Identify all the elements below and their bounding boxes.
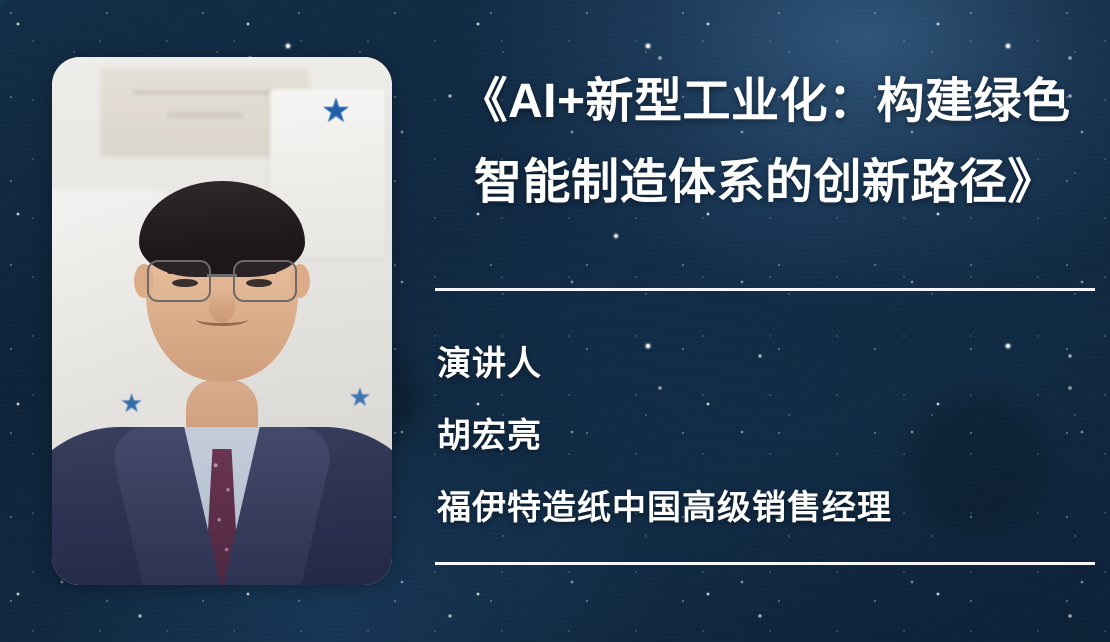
speaker-portrait: ★ ★ ★: [52, 57, 392, 585]
presentation-slide: ★ ★ ★: [0, 0, 1110, 642]
portrait-person: [52, 57, 392, 585]
glasses-bridge: [207, 274, 237, 276]
divider-top: [435, 288, 1095, 291]
speaker-info: 演讲人 胡宏亮 福伊特造纸中国高级销售经理: [437, 328, 1097, 544]
eyeglasses-icon: [147, 260, 297, 300]
slide-text-column: 《AI+新型工业化：构建绿色 智能制造体系的创新路径》 演讲人 胡宏亮 福伊特造…: [435, 0, 1110, 642]
speaker-title: 福伊特造纸中国高级销售经理: [437, 472, 1097, 544]
speaker-label: 演讲人: [437, 328, 1097, 400]
lens-left: [147, 260, 211, 302]
slide-title: 《AI+新型工业化：构建绿色 智能制造体系的创新路径》: [435, 62, 1095, 223]
divider-bottom: [435, 562, 1095, 565]
mouth-shape: [196, 313, 248, 326]
suit-jacket-shape: [52, 427, 392, 585]
lens-right: [233, 260, 297, 302]
title-line-1: 《AI+新型工业化：构建绿色: [435, 62, 1095, 143]
speaker-name: 胡宏亮: [437, 400, 1097, 472]
title-line-2: 智能制造体系的创新路径》: [435, 143, 1095, 224]
